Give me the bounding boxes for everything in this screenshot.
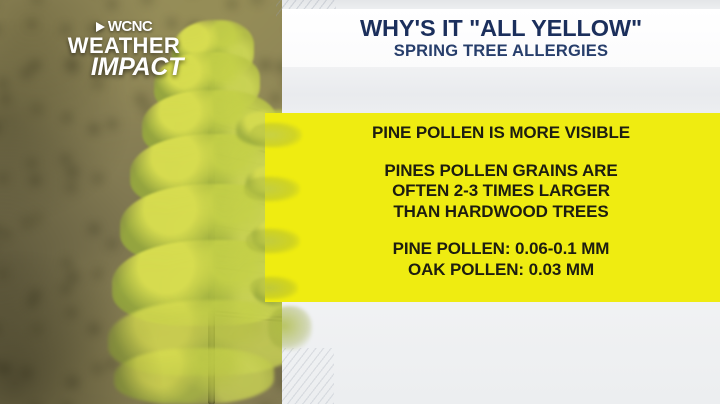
fact-body-line: THAN HARDWOOD TREES (393, 202, 608, 223)
fact-stat-line: PINE POLLEN: 0.06-0.1 MM (393, 239, 610, 260)
photo-panel: WCNC WEATHER IMPACT (0, 0, 282, 404)
broadcast-graphic: WCNC WEATHER IMPACT WHY'S IT "ALL YELLOW… (0, 0, 720, 404)
fact-block: PINE POLLEN IS MORE VISIBLE PINES POLLEN… (265, 113, 720, 302)
top-strip (282, 0, 720, 9)
page-subtitle: SPRING TREE ALLERGIES (394, 42, 608, 60)
fact-stat-line: OAK POLLEN: 0.03 MM (408, 260, 594, 281)
hatch-decoration-bottom-left (282, 348, 334, 404)
brand-line-impact: IMPACT (60, 55, 214, 80)
fact-heading: PINE POLLEN IS MORE VISIBLE (372, 123, 630, 144)
header: WHY'S IT "ALL YELLOW" SPRING TREE ALLERG… (282, 9, 720, 67)
separator-band (282, 67, 720, 113)
info-panel: WHY'S IT "ALL YELLOW" SPRING TREE ALLERG… (282, 0, 720, 404)
wcnc-weather-impact-logo: WCNC WEATHER IMPACT (34, 18, 214, 80)
arrow-icon (96, 22, 105, 32)
page-title: WHY'S IT "ALL YELLOW" (360, 16, 642, 40)
fact-body-line: OFTEN 2-3 TIMES LARGER (392, 181, 610, 202)
fact-body-line: PINES POLLEN GRAINS ARE (384, 161, 617, 182)
